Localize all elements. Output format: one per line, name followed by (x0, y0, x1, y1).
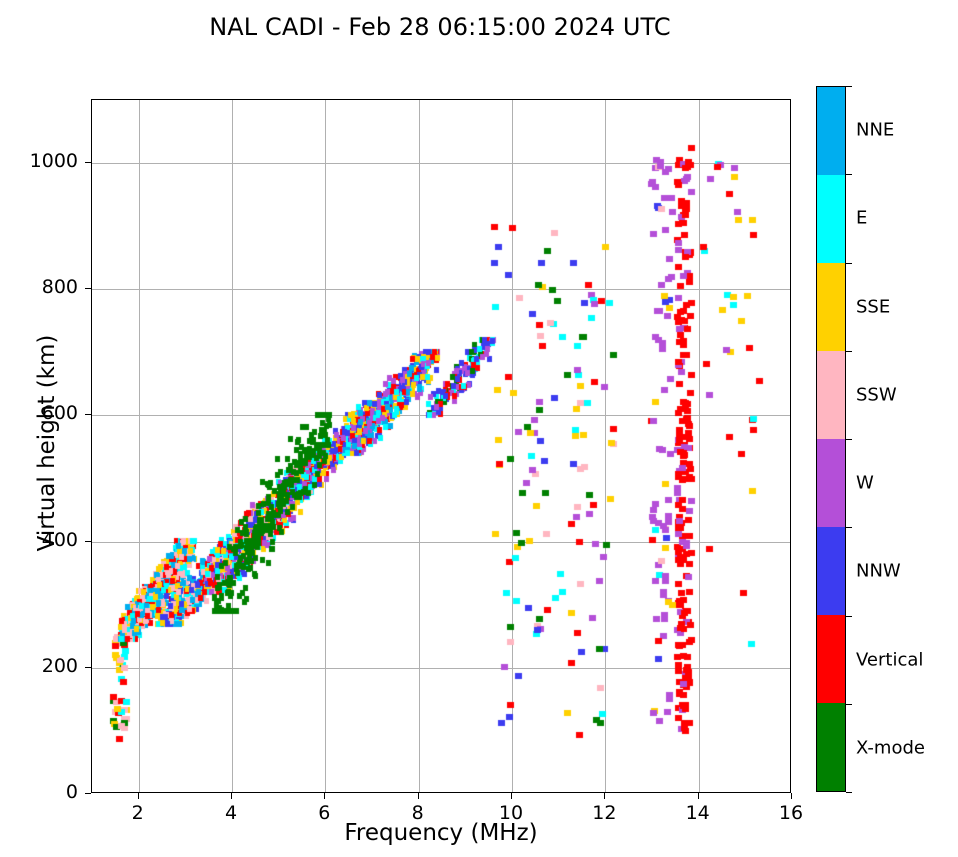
colorbar-label-sse: SSE (856, 296, 890, 317)
x-tick-mark (324, 793, 325, 799)
y-tick-label: 0 (8, 781, 78, 803)
y-tick-label: 200 (8, 655, 78, 677)
y-tick-mark (85, 541, 91, 542)
colorbar-tick-mark (846, 704, 852, 705)
colorbar-segment-sse (817, 263, 845, 351)
x-tick-mark (511, 793, 512, 799)
colorbar-label-vertical: Vertical (856, 649, 923, 670)
colorbar (816, 86, 846, 792)
x-tick-mark (604, 793, 605, 799)
y-tick-mark (85, 162, 91, 163)
y-tick-mark (85, 793, 91, 794)
plot-area (91, 99, 791, 793)
x-axis-label: Frequency (MHz) (91, 820, 791, 846)
colorbar-label-w: W (856, 473, 874, 494)
x-tick-mark (418, 793, 419, 799)
y-tick-mark (85, 667, 91, 668)
colorbar-segment-x-mode (817, 703, 845, 791)
colorbar-tick-mark (846, 263, 852, 264)
colorbar-label-ssw: SSW (856, 384, 897, 405)
colorbar-segment-w (817, 439, 845, 527)
x-tick-mark (698, 793, 699, 799)
colorbar-segment-nne (817, 87, 845, 175)
colorbar-tick-mark (846, 616, 852, 617)
x-tick-mark (791, 793, 792, 799)
colorbar-tick-mark (846, 527, 852, 528)
x-tick-mark (231, 793, 232, 799)
colorbar-tick-mark (846, 439, 852, 440)
colorbar-tick-mark (846, 792, 852, 793)
colorbar-segment-ssw (817, 351, 845, 439)
colorbar-tick-mark (846, 174, 852, 175)
colorbar-tick-mark (846, 351, 852, 352)
colorbar-segment-nnw (817, 527, 845, 615)
x-tick-mark (138, 793, 139, 799)
scatter-plot-canvas (92, 100, 791, 793)
colorbar-tick-mark (846, 86, 852, 87)
colorbar-label-e: E (856, 208, 867, 229)
colorbar-label-nnw: NNW (856, 561, 901, 582)
y-axis-label: Virtual height (km) (34, 293, 60, 593)
y-tick-mark (85, 414, 91, 415)
ionogram-figure: NAL CADI - Feb 28 06:15:00 2024 UTC 2468… (0, 0, 958, 857)
colorbar-label-nne: NNE (856, 120, 894, 141)
colorbar-segment-vertical (817, 615, 845, 703)
y-tick-mark (85, 288, 91, 289)
colorbar-label-x-mode: X-mode (856, 737, 925, 758)
page-title: NAL CADI - Feb 28 06:15:00 2024 UTC (0, 13, 880, 41)
y-tick-label: 1000 (8, 150, 78, 172)
colorbar-segment-e (817, 175, 845, 263)
